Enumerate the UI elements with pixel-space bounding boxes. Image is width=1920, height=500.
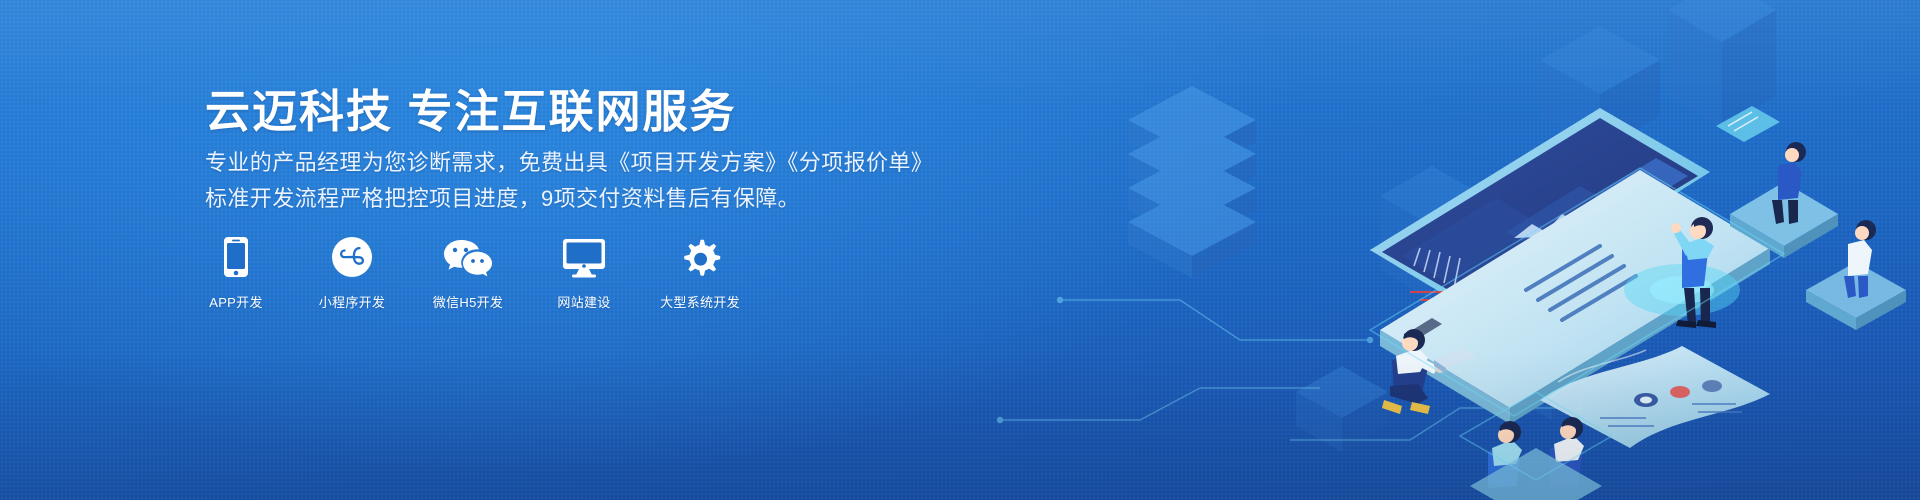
right-platform-person (1806, 220, 1906, 330)
hero-content: 云迈科技 专注互联网服务 专业的产品经理为您诊断需求，免费出具《项目开发方案》《… (200, 0, 960, 500)
service-item-website[interactable]: 网站建设 (548, 232, 620, 311)
mobile-phone-icon (223, 232, 249, 278)
subtitle-line-2: 标准开发流程严格把控项目进度，9项交付资料售后有保障。 (205, 181, 800, 213)
mini-program-icon (331, 232, 373, 278)
person-pair (1470, 417, 1602, 500)
service-label: 大型系统开发 (660, 292, 740, 311)
service-label: 微信H5开发 (433, 292, 503, 311)
service-item-app[interactable]: APP开发 (200, 232, 272, 311)
monitor-icon (562, 232, 606, 278)
service-label: 网站建设 (557, 292, 610, 311)
gear-icon (679, 232, 721, 278)
hero-banner: 云迈科技 专注互联网服务 专业的产品经理为您诊断需求，免费出具《项目开发方案》《… (0, 0, 1920, 500)
service-item-mini-program[interactable]: 小程序开发 (316, 232, 388, 311)
service-list: APP开发 小程序开发 (200, 232, 736, 311)
wechat-icon (443, 232, 493, 278)
service-item-wechat[interactable]: 微信H5开发 (432, 232, 504, 311)
subtitle-line-1: 专业的产品经理为您诊断需求，免费出具《项目开发方案》《分项报价单》 (205, 145, 933, 177)
service-item-large-system[interactable]: 大型系统开发 (664, 232, 736, 311)
server-stack (1128, 86, 1256, 278)
hero-illustration (940, 0, 1920, 500)
service-label: APP开发 (209, 292, 263, 311)
service-label: 小程序开发 (319, 292, 386, 311)
page-title: 云迈科技 专注互联网服务 (205, 75, 737, 140)
